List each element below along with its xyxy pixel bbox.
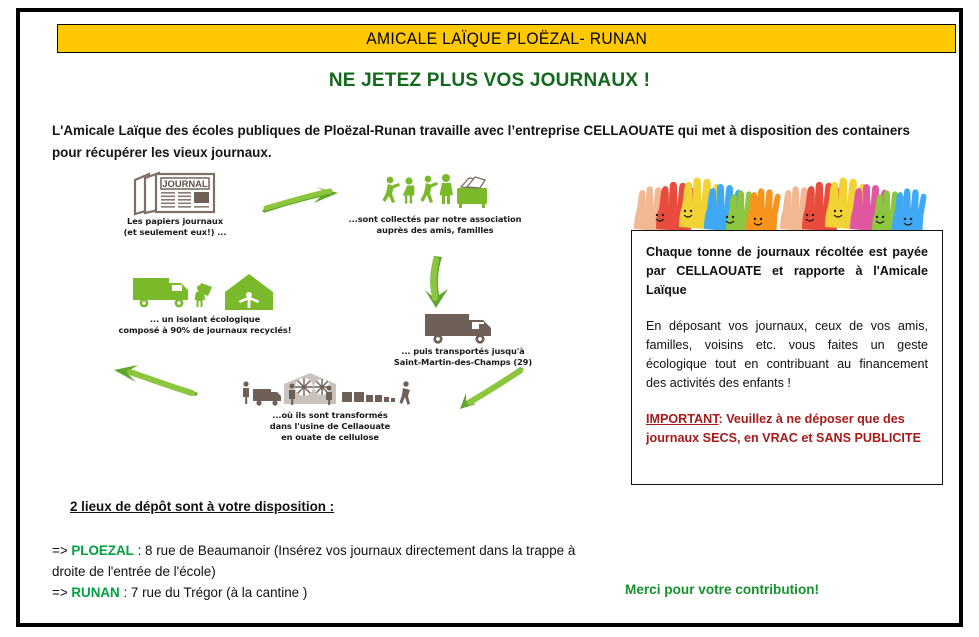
town-name-ploezal: PLOEZAL — [71, 543, 134, 558]
caption-line: ...sont collectés par notre association — [320, 214, 550, 225]
people-and-container-icon — [381, 172, 489, 214]
poster-page: AMICALE LAÏQUE PLOËZAL- RUNAN NE JETEZ P… — [16, 8, 963, 627]
infographic-caption-newspapers: Les papiers journaux (et seulement eux!)… — [90, 216, 260, 238]
svg-text:JOURNAL: JOURNAL — [162, 178, 208, 189]
thanks-message: Merci pour votre contribution! — [625, 582, 819, 597]
truck-icon — [423, 308, 503, 346]
infographic-caption-insulation: ... un isolant écologique composé à 90% … — [90, 314, 320, 336]
warning-label: IMPORTANT — [646, 412, 719, 426]
caption-line: Les papiers journaux — [90, 216, 260, 227]
infographic-step-insulation: ... un isolant écologique composé à 90% … — [90, 270, 320, 336]
infographic-step-transformed: ...où ils sont transformés dans l'usine … — [220, 370, 440, 443]
arrow-marker: => — [52, 585, 68, 600]
info-box-paragraph-payment: Chaque tonne de journaux récoltée est pa… — [646, 243, 928, 300]
newspaper-icon: JOURNAL — [129, 170, 221, 216]
painted-hands-illustration — [630, 173, 950, 235]
dropoff-location-runan: => RUNAN : 7 rue du Trégor (à la cantine… — [52, 582, 612, 603]
cellaouate-info-box: Chaque tonne de journaux récoltée est pa… — [631, 230, 943, 485]
page-title: NE JETEZ PLUS VOS JOURNAUX ! — [20, 70, 959, 92]
association-banner: AMICALE LAÏQUE PLOËZAL- RUNAN — [57, 24, 956, 53]
caption-line: ...où ils sont transformés — [220, 410, 440, 421]
infographic-step-transported: ... puis transportés jusqu'à Saint-Marti… — [358, 308, 568, 368]
dropoff-locations: => PLOEZAL : 8 rue de Beaumanoir (Insére… — [52, 540, 612, 603]
info-box-paragraph-ecology: En déposant vos journaux, ceux de vos am… — [646, 317, 928, 393]
recycling-cycle-infographic: JOURNAL Les papiers journaux (et seuleme… — [80, 170, 620, 455]
caption-line: composé à 90% de journaux recyclés! — [90, 325, 320, 336]
caption-line: ... un isolant écologique — [90, 314, 320, 325]
caption-line: dans l'usine de Cellaouate — [220, 421, 440, 432]
arrow-down-left-icon — [450, 365, 528, 411]
association-title: AMICALE LAÏQUE PLOËZAL- RUNAN — [366, 29, 647, 49]
painted-hands-image — [630, 173, 950, 235]
infographic-arrow-up-left — [110, 362, 200, 409]
location-details-runan: : 7 rue du Trégor (à la cantine ) — [120, 585, 308, 600]
dropoff-heading: 2 lieux de dépôt sont à votre dispositio… — [70, 499, 334, 514]
arrow-marker: => — [52, 543, 68, 558]
infographic-step-newspapers: JOURNAL Les papiers journaux (et seuleme… — [90, 170, 260, 238]
infographic-caption-transformed: ...où ils sont transformés dans l'usine … — [220, 410, 440, 443]
infographic-step-collected: ...sont collectés par notre association … — [320, 172, 550, 236]
arrow-down-icon — [420, 254, 464, 312]
caption-line: auprès des amis, familles — [320, 225, 550, 236]
infographic-caption-collected: ...sont collectés par notre association … — [320, 214, 550, 236]
town-name-runan: RUNAN — [71, 585, 119, 600]
factory-icon — [238, 370, 422, 410]
info-box-warning: IMPORTANT: Veuillez à ne déposer que des… — [646, 410, 928, 448]
caption-line: en ouate de cellulose — [220, 432, 440, 443]
arrow-up-left-icon — [110, 362, 200, 404]
intro-paragraph: L'Amicale Laïque des écoles publiques de… — [52, 120, 940, 164]
delivery-truck-and-house-icon — [131, 270, 279, 314]
dropoff-location-ploezal: => PLOEZAL : 8 rue de Beaumanoir (Insére… — [52, 540, 612, 582]
caption-line: ... puis transportés jusqu'à — [358, 346, 568, 357]
infographic-arrow-down-left — [450, 365, 528, 416]
caption-line: (et seulement eux!) ... — [90, 227, 260, 238]
